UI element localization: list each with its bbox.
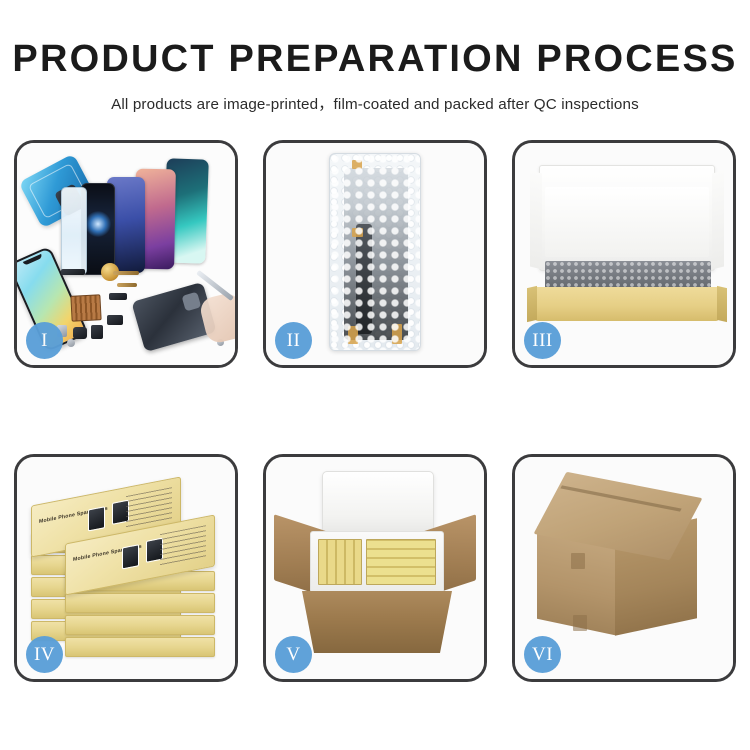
yellow-boxes-group-b: [366, 539, 436, 585]
process-step-panel-2: II: [263, 140, 487, 368]
small-part-icon: [107, 315, 123, 325]
box-spec-text-block: [160, 525, 206, 568]
process-step-panel-1: I: [14, 140, 238, 368]
flex-cable-part-icon: [117, 283, 137, 287]
box-screen-graphic: [122, 544, 139, 569]
tape-icon: [348, 326, 358, 344]
header: PRODUCT PREPARATION PROCESS All products…: [0, 38, 750, 114]
carton-tab-icon: [573, 615, 587, 631]
step-badge-2: II: [275, 322, 312, 359]
flex-cable-part-icon: [113, 271, 139, 275]
small-part-icon: [73, 327, 87, 339]
yellow-boxes-group-a: [318, 539, 362, 585]
page-title: PRODUCT PREPARATION PROCESS: [0, 38, 750, 81]
step-badge-4: IV: [26, 636, 63, 673]
step-badge-6: VI: [524, 636, 561, 673]
process-step-panel-3: III: [512, 140, 736, 368]
tape-icon: [352, 228, 363, 237]
wrapped-flex-cable-icon: [356, 224, 372, 334]
small-part-icon: [61, 269, 85, 275]
carton-front-panel-icon: [302, 591, 452, 653]
page-subtitle: All products are image-printed，film-coat…: [0, 92, 750, 114]
process-step-panel-6: VI: [512, 454, 736, 682]
box-screen-graphic: [88, 506, 105, 531]
small-part-icon: [109, 293, 127, 300]
product-preparation-infographic: PRODUCT PREPARATION PROCESS All products…: [0, 0, 750, 750]
wrapped-screen-icon: [344, 168, 408, 340]
grey-foam-insert-icon: [545, 261, 711, 289]
styrofoam-lid-icon: [322, 471, 434, 537]
step-badge-3: III: [524, 322, 561, 359]
carton-tab-icon: [571, 553, 585, 569]
step-badge-1: I: [26, 322, 63, 359]
tempered-glass-icon: [61, 187, 87, 275]
yellow-box-base-icon: [535, 287, 719, 321]
small-part-icon: [91, 325, 103, 339]
copper-grid-part-icon: [70, 294, 101, 322]
bubble-wrap-bag-icon: [329, 153, 421, 351]
screw-part-icon: [67, 339, 75, 347]
process-step-grid: I II: [14, 140, 736, 682]
tape-icon: [352, 160, 362, 169]
white-foam-sheet-icon: [545, 187, 709, 257]
process-step-panel-4: Mobile Phone Spare Parts Mobile Phone Sp…: [14, 454, 238, 682]
process-step-panel-5: V: [263, 454, 487, 682]
tape-icon: [392, 324, 402, 344]
step-badge-5: V: [275, 636, 312, 673]
